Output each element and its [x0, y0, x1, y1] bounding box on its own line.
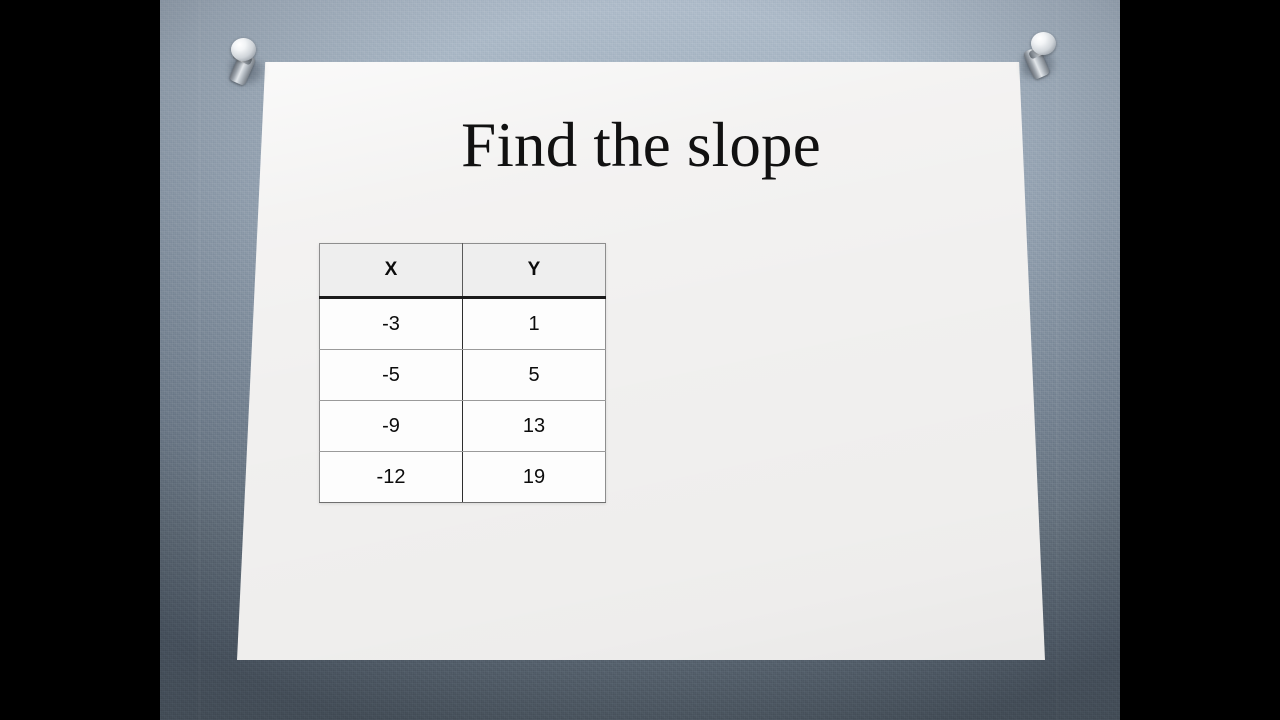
table-body: -3 1 -5 5 -9 13 -12 19 [320, 298, 606, 503]
cell-y-2: 13 [463, 401, 606, 452]
pushpin-head [231, 38, 256, 61]
cell-y-1: 5 [463, 350, 606, 401]
cell-x-3: -12 [320, 452, 463, 503]
table-row: -9 13 [320, 401, 606, 452]
cell-y-0: 1 [463, 298, 606, 350]
letterbox-bar-left [0, 0, 160, 720]
table-header-row: X Y [320, 244, 606, 298]
cell-x-2: -9 [320, 401, 463, 452]
column-header-x: X [320, 244, 463, 298]
slide-frame: Find the slope X Y -3 [0, 0, 1280, 720]
pushpin-icon-left [226, 36, 270, 94]
xy-table-container: X Y -3 1 -5 5 -9 [319, 243, 606, 503]
column-header-y: Y [463, 244, 606, 298]
cell-x-1: -5 [320, 350, 463, 401]
table-row: -12 19 [320, 452, 606, 503]
letterbox-bar-right [1120, 0, 1280, 720]
pushpin-head [1031, 32, 1056, 55]
cell-x-0: -3 [320, 298, 463, 350]
corkboard-background: Find the slope X Y -3 [160, 0, 1120, 720]
table-row: -5 5 [320, 350, 606, 401]
paper-sheet: Find the slope X Y -3 [237, 62, 1045, 660]
pushpin-stem [229, 52, 257, 86]
cell-y-3: 19 [463, 452, 606, 503]
table-header: X Y [320, 244, 606, 298]
table-row: -3 1 [320, 298, 606, 350]
pushpin-shadow [1022, 54, 1056, 80]
pushpin-collar [232, 50, 253, 65]
xy-data-table: X Y -3 1 -5 5 -9 [319, 243, 606, 503]
pushpin-collar [1028, 44, 1049, 59]
pushpin-icon-right [1018, 30, 1062, 88]
page-title: Find the slope [237, 112, 1045, 179]
pushpin-stem [1023, 46, 1051, 80]
pushpin-shadow [230, 60, 264, 86]
